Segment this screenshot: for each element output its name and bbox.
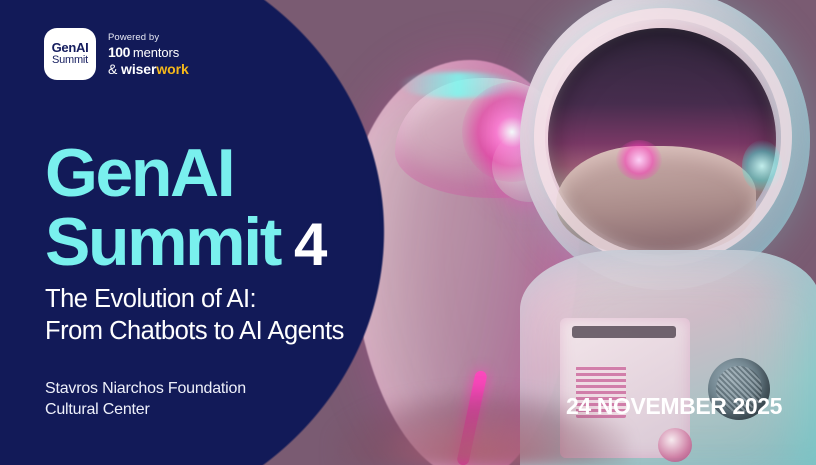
logo-badge-line1: GenAI (52, 41, 89, 55)
venue-line2: Cultural Center (45, 399, 246, 420)
event-banner: GenAI Summit Powered by 100mentors & wis… (0, 0, 816, 465)
headline-line1: GenAI (45, 135, 233, 211)
partner-wiserwork-second: work (156, 61, 188, 77)
partner-100mentors-word: mentors (133, 45, 179, 60)
logo-lockup[interactable]: GenAI Summit Powered by 100mentors & wis… (44, 28, 189, 80)
powered-by-label: Powered by (108, 32, 189, 43)
subtitle-line2: From Chatbots to AI Agents (45, 315, 344, 347)
partner-ampersand: & (108, 61, 117, 77)
partner-100mentors[interactable]: 100mentors (108, 44, 189, 60)
partner-wiserwork[interactable]: & wiserwork (108, 61, 189, 77)
subtitle-line1: The Evolution of AI: (45, 283, 344, 315)
genai-summit-logo[interactable]: GenAI Summit (44, 28, 96, 80)
event-headline: GenAI Summit4 (45, 141, 326, 276)
logo-badge-line2: Summit (52, 55, 88, 67)
headline-line2-wrapper: Summit4 (45, 210, 326, 275)
event-venue: Stavros Niarchos Foundation Cultural Cen… (45, 378, 246, 420)
edition-number: 4 (294, 211, 326, 278)
headline-line2: Summit (45, 204, 280, 280)
powered-by-block: Powered by 100mentors & wiserwork (108, 32, 189, 77)
partner-100mentors-number: 100 (108, 44, 130, 60)
partner-wiserwork-first: wiser (121, 61, 156, 77)
venue-line1: Stavros Niarchos Foundation (45, 378, 246, 399)
event-date: 24 NOVEMBER 2025 (566, 393, 782, 420)
event-subtitle: The Evolution of AI: From Chatbots to AI… (45, 283, 344, 347)
banner-content: GenAI Summit Powered by 100mentors & wis… (0, 0, 816, 465)
